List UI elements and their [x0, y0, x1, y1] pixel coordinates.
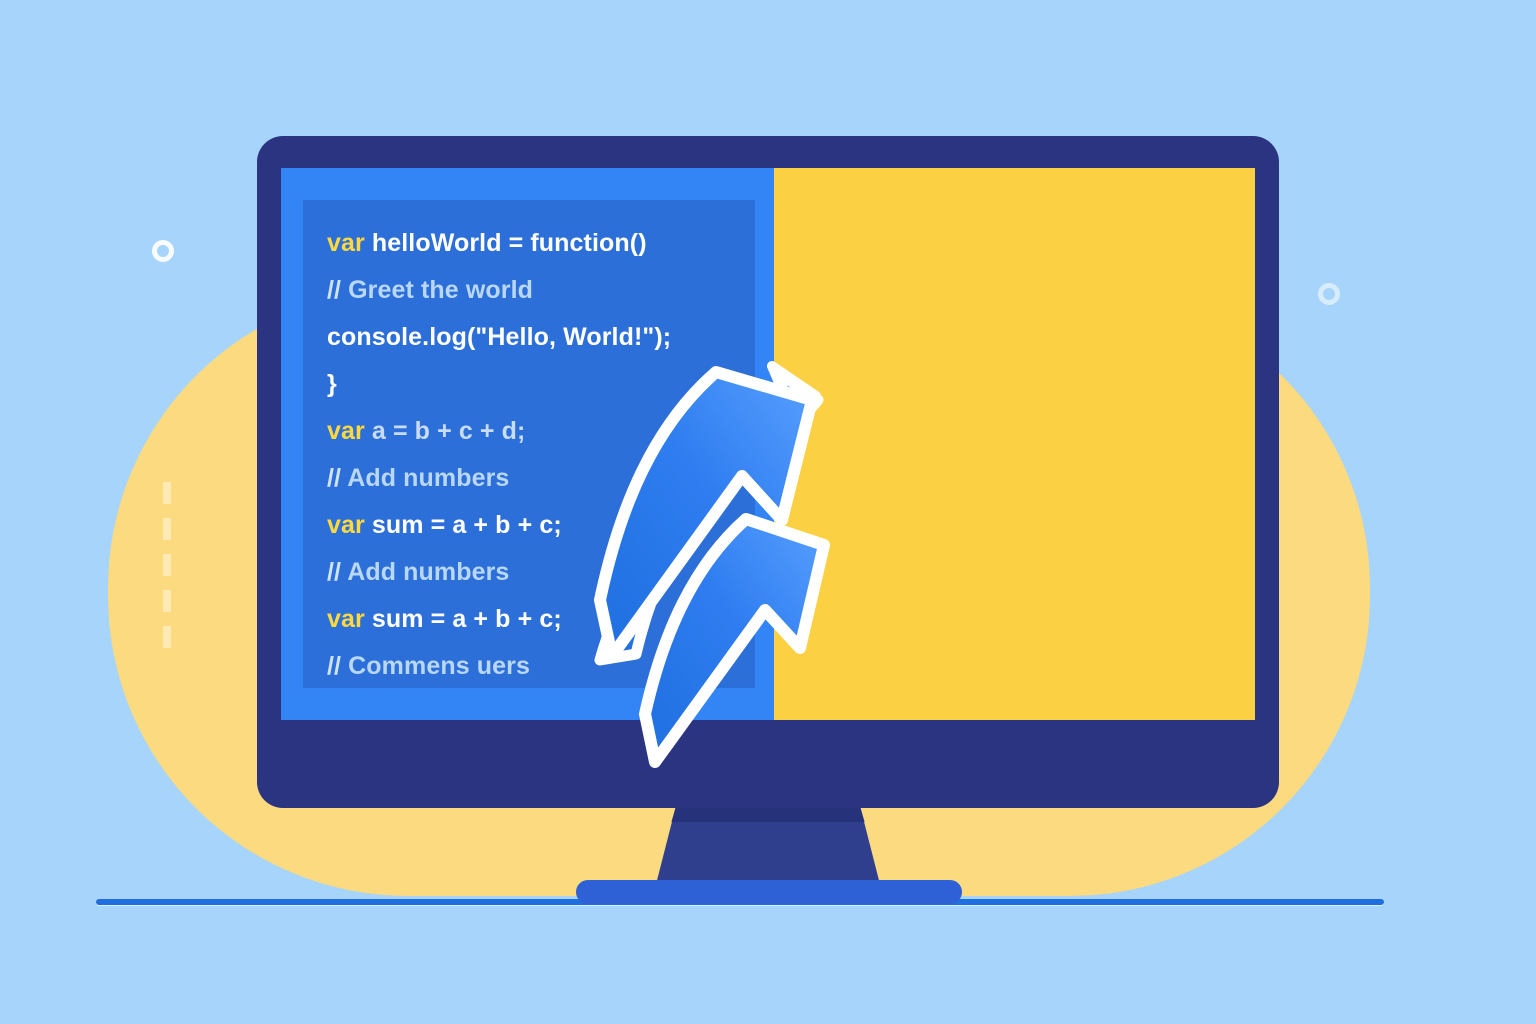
comment-slashes: // — [327, 464, 341, 492]
code-text: } — [327, 370, 337, 398]
code-text: sum = a + b + c; — [372, 511, 562, 539]
dashed-line-decor — [163, 482, 171, 654]
code-line: // Commens uers — [327, 643, 755, 690]
code-line: console.log("Hello, World!"); — [327, 314, 755, 361]
code-line: var a = b + c + d; — [327, 408, 755, 455]
comment-text: Add numbers — [347, 558, 509, 586]
circle-ring-icon — [152, 240, 174, 262]
code-keyword: var — [327, 229, 365, 257]
code-line: var sum = a + b + c; — [327, 502, 755, 549]
comment-text: Commens uers — [348, 652, 530, 680]
screen-left-half: var helloWorld = function() // Greet the… — [281, 168, 774, 720]
code-line: // Greet the world — [327, 267, 755, 314]
comment-text: Add numbers — [347, 464, 509, 492]
code-text: a = b + c + d; — [372, 417, 526, 445]
code-line: var sum = a + b + c; — [327, 596, 755, 643]
code-line: var helloWorld = function() — [327, 220, 755, 267]
code-line: } — [327, 361, 755, 408]
code-keyword: var — [327, 417, 365, 445]
comment-text: Greet the world — [348, 276, 533, 304]
illustration-canvas: var helloWorld = function() // Greet the… — [0, 0, 1536, 1024]
code-text: helloWorld = function() — [372, 229, 647, 257]
code-text: sum = a + b + c; — [372, 605, 562, 633]
code-line: // Add numbers — [327, 549, 755, 596]
monitor-neck-highlight — [653, 806, 883, 822]
comment-slashes: // — [327, 276, 341, 304]
screen-right-half: var helloWorld=function() console.log(He… — [774, 168, 1255, 720]
monitor-screen: var helloWorld = function() // Greet the… — [281, 168, 1255, 720]
comment-slashes: // — [327, 558, 341, 586]
source-code-editor[interactable]: var helloWorld = function() // Greet the… — [303, 200, 755, 688]
code-keyword: var — [327, 511, 365, 539]
monitor-base — [576, 880, 962, 904]
code-text: console.log("Hello, World!"); — [327, 323, 671, 351]
code-line: // Add numbers — [327, 455, 755, 502]
code-keyword: var — [327, 605, 365, 633]
circle-ring-icon — [1318, 283, 1340, 305]
comment-slashes: // — [327, 652, 341, 680]
